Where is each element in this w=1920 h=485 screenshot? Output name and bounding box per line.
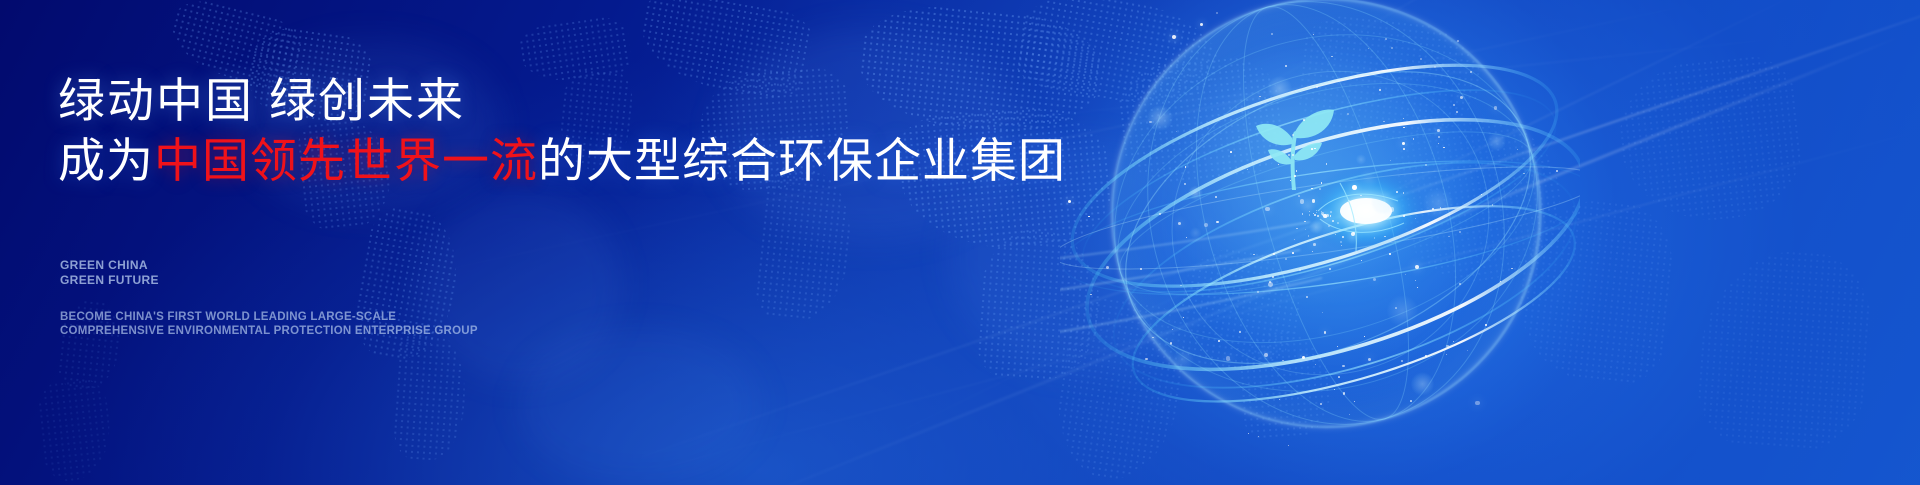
- tagline-english: BECOME CHINA'S FIRST WORLD LEADING LARGE…: [60, 310, 478, 338]
- slogan-english-line2: GREEN FUTURE: [60, 273, 159, 288]
- headline-secondary-prefix: 成为: [58, 134, 154, 187]
- headline-secondary: 成为中国领先世界一流的大型综合环保企业集团: [58, 132, 1058, 190]
- banner-copy: 绿动中国 绿创未来 成为中国领先世界一流的大型综合环保企业集团: [58, 72, 1058, 190]
- globe-graphic: [1060, 0, 1580, 485]
- hero-banner: 绿动中国 绿创未来 成为中国领先世界一流的大型综合环保企业集团 GREEN CH…: [0, 0, 1920, 485]
- tagline-english-line1: BECOME CHINA'S FIRST WORLD LEADING LARGE…: [60, 310, 478, 324]
- slogan-english-line1: GREEN CHINA: [60, 258, 159, 273]
- tagline-english-line2: COMPREHENSIVE ENVIRONMENTAL PROTECTION E…: [60, 324, 478, 338]
- headline-secondary-suffix: 的大型综合环保企业集团: [538, 134, 1066, 187]
- slogan-english: GREEN CHINA GREEN FUTURE: [60, 258, 159, 287]
- headline-primary: 绿动中国 绿创未来: [58, 72, 1058, 130]
- headline-secondary-highlight: 中国领先世界一流: [154, 134, 538, 187]
